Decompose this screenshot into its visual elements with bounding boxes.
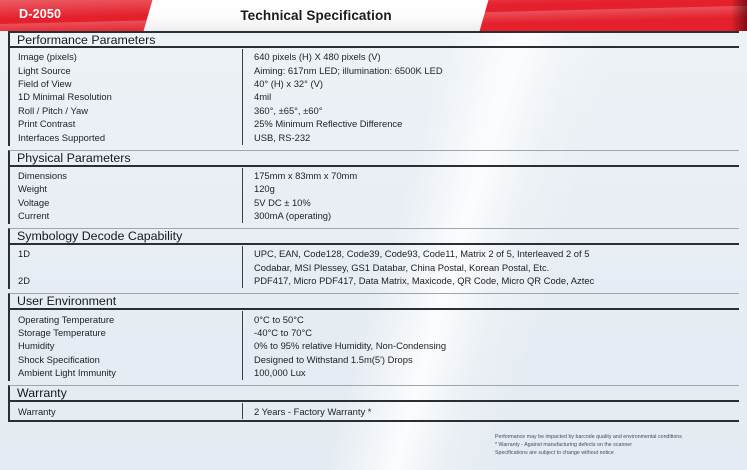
table-row: Weight 120g (10, 182, 739, 195)
row-label: Dimensions (10, 170, 242, 181)
table-row: Current 300mA (operating) (10, 209, 739, 222)
table-row: Field of View 40° (H) x 32° (V) (10, 77, 739, 90)
section-header-user-environment: User Environment (8, 293, 739, 310)
row-value: Designed to Withstand 1.5m(5') Drops (242, 354, 739, 365)
row-label: Warranty (10, 406, 242, 417)
section-header-symbology-decode-capability: Symbology Decode Capability (8, 228, 739, 245)
row-label: Light Source (10, 65, 242, 76)
header-banner: D-2050 Technical Specification (0, 0, 747, 31)
table-row: Voltage 5V DC ± 10% (10, 196, 739, 209)
row-value: 100,000 Lux (242, 367, 739, 378)
section-title: Warranty (17, 386, 67, 400)
row-label: Shock Specification (10, 354, 242, 365)
table-row: Operating Temperature 0°C to 50°C (10, 312, 739, 325)
model-number: D-2050 (19, 7, 61, 21)
section-title: Symbology Decode Capability (17, 229, 182, 243)
row-label: Print Contrast (10, 118, 242, 129)
row-value: 5V DC ± 10% (242, 197, 739, 208)
specification-table: Performance Parameters Image (pixels) 64… (8, 31, 739, 422)
row-value: Aiming: 617nm LED; illumination: 6500K L… (242, 65, 739, 76)
row-value: 25% Minimum Reflective Difference (242, 118, 739, 129)
table-row: Warranty 2 Years - Factory Warranty * (10, 404, 739, 417)
table-row: Light Source Aiming: 617nm LED; illumina… (10, 63, 739, 76)
row-value: -40°C to 70°C (242, 327, 739, 338)
row-label: Interfaces Supported (10, 132, 242, 143)
row-value: 300mA (operating) (242, 210, 739, 221)
section-header-warranty: Warranty (8, 385, 739, 402)
disclaimer-notes: Performance may be impacted by barcode q… (495, 433, 739, 458)
row-value: Codabar, MSI Plessey, GS1 Databar, China… (242, 262, 739, 273)
section-rows-physical-parameters: Dimensions 175mm x 83mm x 70mm Weight 12… (8, 167, 739, 225)
row-label: Ambient Light Immunity (10, 367, 242, 378)
section-rows-performance-parameters: Image (pixels) 640 pixels (H) X 480 pixe… (8, 48, 739, 146)
section-rows-symbology-decode-capability: 1D UPC, EAN, Code128, Code39, Code93, Co… (8, 245, 739, 289)
table-row: Image (pixels) 640 pixels (H) X 480 pixe… (10, 50, 739, 63)
section-rows-warranty: Warranty 2 Years - Factory Warranty * (8, 402, 739, 419)
table-row: Shock Specification Designed to Withstan… (10, 353, 739, 366)
table-row: Roll / Pitch / Yaw 360°, ±65°, ±60° (10, 104, 739, 117)
table-row: Codabar, MSI Plessey, GS1 Databar, China… (10, 261, 739, 274)
section-title: User Environment (17, 294, 116, 308)
table-bottom-rule (8, 420, 739, 422)
row-value: 120g (242, 183, 739, 194)
row-value: 4mil (242, 91, 739, 102)
row-label: Storage Temperature (10, 327, 242, 338)
page-title: Technical Specification (148, 0, 484, 31)
table-row: Ambient Light Immunity 100,000 Lux (10, 366, 739, 379)
banner-edge-shadow (731, 0, 747, 31)
spec-sheet-page: D-2050 Technical Specification Performan… (0, 0, 747, 470)
row-value: 0% to 95% relative Humidity, Non-Condens… (242, 340, 739, 351)
row-value: 175mm x 83mm x 70mm (242, 170, 739, 181)
row-label: Image (pixels) (10, 51, 242, 62)
row-label: Current (10, 210, 242, 221)
table-row: Humidity 0% to 95% relative Humidity, No… (10, 339, 739, 352)
row-value: 0°C to 50°C (242, 314, 739, 325)
table-row: 1D Minimal Resolution 4mil (10, 90, 739, 103)
row-label: Voltage (10, 197, 242, 208)
table-row: 2D PDF417, Micro PDF417, Data Matrix, Ma… (10, 274, 739, 287)
row-label: Weight (10, 183, 242, 194)
disclaimer-line-warranty: * Warranty - Against manufacturing defec… (495, 441, 739, 449)
row-value: UPC, EAN, Code128, Code39, Code93, Code1… (242, 248, 739, 259)
section-rows-user-environment: Operating Temperature 0°C to 50°C Storag… (8, 310, 739, 381)
row-value: USB, RS-232 (242, 132, 739, 143)
table-row: Dimensions 175mm x 83mm x 70mm (10, 169, 739, 182)
table-row: Print Contrast 25% Minimum Reflective Di… (10, 117, 739, 130)
section-title: Physical Parameters (17, 151, 131, 165)
row-label: 1D (10, 248, 242, 259)
row-label: Roll / Pitch / Yaw (10, 105, 242, 116)
row-value: 640 pixels (H) X 480 pixels (V) (242, 51, 739, 62)
disclaimer-line-specifications: Specifications are subject to change wit… (495, 449, 739, 457)
row-label: Field of View (10, 78, 242, 89)
section-title: Performance Parameters (17, 33, 155, 47)
row-value: 360°, ±65°, ±60° (242, 105, 739, 116)
table-row: 1D UPC, EAN, Code128, Code39, Code93, Co… (10, 247, 739, 260)
section-header-performance-parameters: Performance Parameters (8, 31, 739, 48)
row-label: 1D Minimal Resolution (10, 91, 242, 102)
row-label: Humidity (10, 340, 242, 351)
row-value: PDF417, Micro PDF417, Data Matrix, Maxic… (242, 275, 739, 286)
table-row: Storage Temperature -40°C to 70°C (10, 326, 739, 339)
row-value: 2 Years - Factory Warranty * (242, 406, 739, 417)
disclaimer-line-performance: Performance may be impacted by barcode q… (495, 433, 739, 441)
table-row: Interfaces Supported USB, RS-232 (10, 130, 739, 143)
row-label: 2D (10, 275, 242, 286)
row-value: 40° (H) x 32° (V) (242, 78, 739, 89)
section-header-physical-parameters: Physical Parameters (8, 150, 739, 167)
row-label: Operating Temperature (10, 314, 242, 325)
